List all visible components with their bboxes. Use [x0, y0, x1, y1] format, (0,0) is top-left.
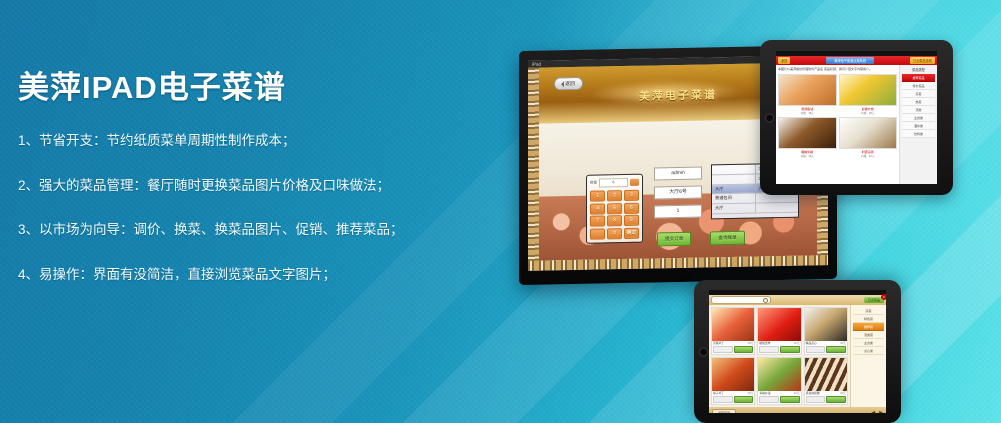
detail-button[interactable] — [759, 396, 779, 403]
key-1[interactable]: 1 — [590, 190, 605, 201]
dish-card[interactable]: 黑椒牛柳 价格：48元 — [778, 117, 837, 158]
dish-grid: 宫保鸡丁 28元 糖醋里脊 32元 — [711, 307, 848, 405]
app-header-bar: 已点菜品 6 — [709, 295, 886, 305]
sidebar-item-hot[interactable]: 热菜 — [902, 98, 935, 106]
add-dish-button[interactable] — [780, 346, 800, 353]
cart-label: 已点菜品 — [868, 298, 880, 302]
add-dish-button[interactable] — [826, 346, 846, 353]
key-3[interactable]: 3 — [624, 190, 639, 201]
key-9[interactable]: 9 — [624, 215, 639, 226]
status-carrier: iPad — [532, 62, 541, 67]
add-dish-button[interactable] — [734, 346, 754, 353]
detail-button[interactable] — [713, 346, 733, 353]
key-confirm[interactable]: 确定 — [624, 227, 639, 238]
back-button[interactable]: 返回 — [554, 77, 583, 91]
category-sidebar: 凉菜 特色菜 推荐菜 汤类菜 主食类 点心类 — [850, 305, 886, 407]
sidebar-item-specialty[interactable]: 特色菜 — [853, 315, 884, 323]
sidebar-item-cold[interactable]: 凉菜 — [902, 90, 935, 98]
dish-card[interactable]: 糖醋里脊 32元 — [757, 307, 801, 355]
count-field[interactable]: 1 — [654, 205, 702, 219]
table-area-cell — [712, 165, 756, 175]
dish-name: 黑森林蛋糕 — [806, 391, 820, 395]
add-dish-button[interactable] — [826, 396, 846, 403]
detail-button[interactable] — [759, 346, 779, 353]
dish-image — [712, 308, 754, 341]
app-title-chip: 美萍电子菜谱点菜系统 — [826, 57, 874, 64]
dish-card[interactable]: 精品点心 18元 — [804, 307, 848, 355]
home-link[interactable]: 返回首页 — [712, 409, 736, 414]
dish-price: 价格：38元 — [778, 111, 837, 115]
promo-banner: 美萍IPAD电子菜谱 1、节省开支：节约纸质菜单周期性制作成本； 2、强大的菜品… — [0, 0, 1001, 423]
dish-image — [758, 358, 800, 391]
table-area-cell — [712, 174, 756, 184]
keypad-keys: 1 2 3 4 5 6 7 8 9 . 0 确定 — [590, 190, 639, 239]
notice-text: 本图片by美萍餐饮管理软件产品名 菜品标题，我们介绍文字内容简介。 — [778, 67, 897, 72]
view-cart-button[interactable]: 已点菜品查看 — [910, 57, 935, 64]
key-4[interactable]: 4 — [590, 203, 605, 214]
query-bill-button[interactable]: 查询账单 — [710, 231, 744, 246]
marketing-copy: 美萍IPAD电子菜谱 1、节省开支：节约纸质菜单周期性制作成本； 2、强大的菜品… — [18, 70, 478, 285]
table-area-cell: 大厅 — [712, 204, 756, 214]
sidebar-title: 菜品类型 — [902, 67, 935, 72]
dish-price: 32元 — [794, 341, 800, 345]
pagination-nav: ◀ ▶ — [871, 410, 883, 414]
dish-price: 26元 — [840, 391, 846, 395]
sidebar-item-staple[interactable]: 主食类 — [902, 114, 935, 122]
greek-border-left — [528, 68, 539, 271]
home-button-icon[interactable] — [765, 113, 774, 122]
dish-price: 18元 — [840, 341, 846, 345]
sidebar-item-recommended[interactable]: 推荐菜 — [853, 323, 884, 331]
table-field[interactable]: 大厅6号 — [654, 186, 702, 200]
dish-image — [758, 308, 800, 341]
dish-card[interactable]: 彩椒炒肉 价格：28元 — [839, 74, 898, 115]
ipad-tr-screen: 返回 美萍电子菜谱点菜系统 已点菜品查看 本图片by美萍餐饮管理软件产品名 菜品… — [776, 51, 937, 184]
detail-button[interactable] — [806, 346, 826, 353]
user-field[interactable]: admin — [654, 167, 702, 181]
dish-name: 糖醋里脊 — [759, 341, 770, 345]
detail-button[interactable] — [806, 396, 826, 403]
detail-button[interactable] — [713, 396, 733, 403]
dish-grid: 香辣鱼块 价格：38元 彩椒炒肉 价格：28元 黑椒牛柳 价格：48元 — [778, 74, 897, 158]
ipad-br-screen: 已点菜品 6 宫保鸡丁 28元 — [709, 290, 886, 413]
table-area-cell: 大厅 — [712, 184, 756, 194]
sidebar-item-special[interactable]: 特价菜品 — [902, 82, 935, 90]
submit-order-button[interactable]: 提交订单 — [657, 232, 691, 247]
dish-area: 宫保鸡丁 28元 糖醋里脊 32元 — [709, 305, 850, 407]
table-row[interactable]: 大厅 — [712, 203, 798, 214]
key-2[interactable]: 2 — [607, 190, 622, 201]
dish-card[interactable]: 宫保鸡丁 28元 — [711, 307, 755, 355]
keypad-label: 数量 — [590, 181, 597, 186]
dish-image — [839, 74, 898, 106]
order-action-bar: 提交订单 查询账单 — [657, 231, 745, 247]
sidebar-item-staple[interactable]: 主食类 — [853, 339, 884, 347]
back-button[interactable]: 返回 — [778, 57, 790, 64]
home-button-icon[interactable] — [699, 347, 708, 356]
dish-area: 本图片by美萍餐饮管理软件产品名 菜品标题，我们介绍文字内容简介。 香辣鱼块 价… — [776, 65, 899, 184]
feature-bullet-3: 3、以市场为向导：调价、换菜、换菜品图片、促销、推荐菜品； — [18, 221, 478, 240]
table-name-cell — [756, 203, 799, 213]
key-8[interactable]: 8 — [607, 215, 622, 226]
backspace-icon[interactable] — [630, 179, 639, 186]
key-6[interactable]: 6 — [624, 202, 639, 213]
dish-name: 宫保鸡丁 — [713, 341, 724, 345]
keypad-value[interactable]: 6 — [599, 178, 628, 188]
dish-card[interactable]: 香辣鱼块 价格：38元 — [778, 74, 837, 115]
dish-image — [712, 358, 754, 391]
sidebar-item-dessert[interactable]: 点心类 — [853, 347, 884, 355]
feature-bullet-4: 4、易操作：界面有没简洁，直接浏览菜品文字图片； — [18, 266, 478, 285]
page-title: 美萍IPAD电子菜谱 — [18, 70, 478, 106]
app-body: 宫保鸡丁 28元 糖醋里脊 32元 — [709, 305, 886, 407]
cart-badge: 6 — [881, 294, 886, 300]
table-area-cell: 普通包间 — [712, 194, 756, 204]
sidebar-item-recommended[interactable]: 推荐菜品 — [902, 74, 935, 82]
key-7[interactable]: 7 — [590, 215, 605, 226]
add-dish-button[interactable] — [734, 396, 754, 403]
ipad-device-bottom-right: 已点菜品 6 宫保鸡丁 28元 — [694, 280, 901, 423]
dish-price: 价格：48元 — [778, 154, 837, 158]
dish-card[interactable]: 辣子鸡丁 36元 — [711, 357, 755, 405]
sidebar-item-beverage[interactable]: 饮料类 — [902, 130, 935, 138]
sidebar-item-cold[interactable]: 凉菜 — [853, 307, 884, 315]
keypad-display-row: 数量 6 — [590, 178, 639, 188]
dish-image — [778, 74, 837, 106]
app-header-bar: 返回 美萍电子菜谱点菜系统 已点菜品查看 — [776, 56, 937, 65]
key-dot[interactable]: . — [590, 228, 605, 239]
prev-page-icon[interactable]: ◀ — [871, 410, 875, 414]
dish-card[interactable]: 青椒炒蛋 22元 — [757, 357, 801, 405]
dish-image — [839, 117, 898, 149]
key-0[interactable]: 0 — [607, 228, 622, 239]
dish-card[interactable]: 时蔬凉拌 价格：18元 — [839, 117, 898, 158]
ipad-device-top-right: 返回 美萍电子菜谱点菜系统 已点菜品查看 本图片by美萍餐饮管理软件产品名 菜品… — [760, 40, 953, 195]
dish-name: 青椒炒蛋 — [759, 391, 770, 395]
feature-bullet-2: 2、强大的菜品管理：餐厅随时更换菜品图片价格及口味做法； — [18, 177, 478, 196]
sidebar-item-soup[interactable]: 汤类菜 — [853, 331, 884, 339]
app-footer-bar: 返回首页 ◀ ▶ — [709, 407, 886, 413]
search-input[interactable] — [711, 296, 771, 304]
order-fields: admin 大厅6号 1 — [654, 167, 702, 225]
cart-button[interactable]: 已点菜品 6 — [864, 297, 884, 303]
dish-price: 价格：28元 — [839, 111, 898, 115]
dish-image — [805, 308, 847, 341]
dish-name: 辣子鸡丁 — [713, 391, 724, 395]
key-5[interactable]: 5 — [607, 203, 622, 214]
app-body: 本图片by美萍餐饮管理软件产品名 菜品标题，我们介绍文字内容简介。 香辣鱼块 价… — [776, 65, 937, 184]
category-sidebar: 菜品类型 推荐菜品 特价菜品 凉菜 热菜 汤类 主食类 酒水类 饮料类 — [899, 65, 937, 184]
dish-name: 精品点心 — [806, 341, 817, 345]
numeric-keypad[interactable]: 数量 6 1 2 3 4 5 6 7 8 9 . — [586, 174, 643, 244]
feature-bullet-1: 1、节省开支：节约纸质菜单周期性制作成本； — [18, 132, 478, 151]
sidebar-item-soup[interactable]: 汤类 — [902, 106, 935, 114]
dish-price: 28元 — [747, 341, 753, 345]
dish-card[interactable]: 黑森林蛋糕 26元 — [804, 357, 848, 405]
sidebar-item-drinks[interactable]: 酒水类 — [902, 122, 935, 130]
add-dish-button[interactable] — [780, 396, 800, 403]
dish-price: 36元 — [747, 391, 753, 395]
dish-price: 22元 — [794, 391, 800, 395]
dish-image — [778, 117, 837, 149]
dish-price: 价格：18元 — [839, 154, 898, 158]
next-page-icon[interactable]: ▶ — [879, 410, 883, 414]
dish-image — [805, 358, 847, 391]
